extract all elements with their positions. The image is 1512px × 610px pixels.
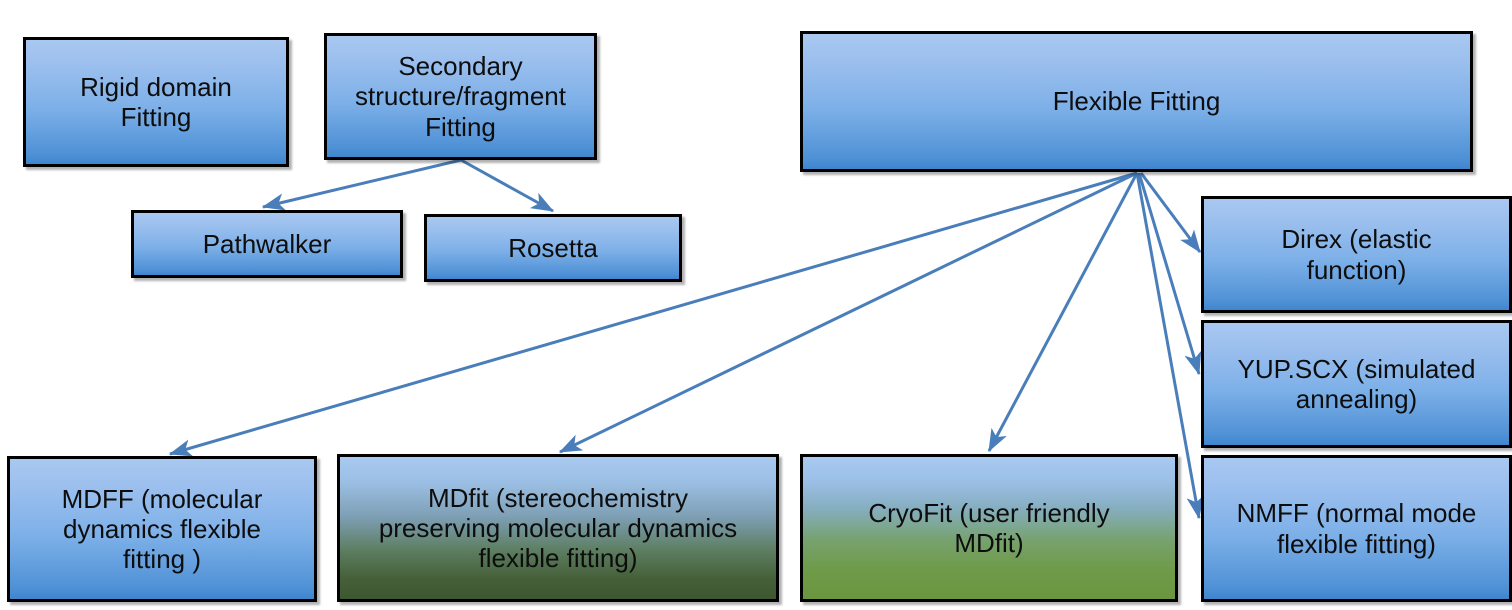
- node-label-flexible-fitting: Flexible Fitting: [1045, 86, 1229, 116]
- node-cryofit[interactable]: CryoFit (user friendly MDfit): [800, 454, 1178, 602]
- node-flexible-fitting[interactable]: Flexible Fitting: [800, 31, 1473, 172]
- connector-secondary-to-pathwalker: [263, 160, 461, 207]
- node-label-direx: Direx (elastic function): [1273, 224, 1439, 284]
- node-label-nmff: NMFF (normal mode flexible fitting): [1229, 498, 1485, 558]
- node-nmff[interactable]: NMFF (normal mode flexible fitting): [1201, 455, 1512, 602]
- node-label-cryofit: CryoFit (user friendly MDfit): [860, 498, 1117, 558]
- connector-flexible-to-direx: [1141, 173, 1200, 252]
- node-rigid-domain-fitting[interactable]: Rigid domain Fitting: [23, 37, 289, 167]
- node-label-pathwalker: Pathwalker: [195, 229, 340, 259]
- node-rosetta[interactable]: Rosetta: [424, 214, 682, 282]
- node-label-secondary-structure-fragment-fitting: Secondary structure/fragment Fitting: [347, 51, 574, 141]
- node-yup-scx[interactable]: YUP.SCX (simulated annealing): [1201, 320, 1512, 448]
- node-label-rosetta: Rosetta: [500, 233, 606, 263]
- node-label-rigid-domain-fitting: Rigid domain Fitting: [72, 72, 240, 132]
- node-direx[interactable]: Direx (elastic function): [1201, 196, 1512, 313]
- node-secondary-structure-fragment-fitting[interactable]: Secondary structure/fragment Fitting: [324, 33, 597, 160]
- node-label-mdfit: MDfit (stereochemistry preserving molecu…: [371, 483, 745, 573]
- node-mdff[interactable]: MDFF (molecular dynamics flexible fittin…: [7, 456, 317, 602]
- connector-flexible-to-yupscx: [1139, 173, 1199, 374]
- diagram-canvas: Rigid domain FittingSecondary structure/…: [0, 0, 1512, 610]
- connector-secondary-to-rosetta: [461, 160, 553, 211]
- node-mdfit[interactable]: MDfit (stereochemistry preserving molecu…: [337, 454, 779, 602]
- node-label-yup-scx: YUP.SCX (simulated annealing): [1230, 354, 1484, 414]
- node-label-mdff: MDFF (molecular dynamics flexible fittin…: [54, 484, 271, 574]
- node-pathwalker[interactable]: Pathwalker: [131, 210, 403, 278]
- connector-flexible-to-cryofit: [989, 173, 1137, 451]
